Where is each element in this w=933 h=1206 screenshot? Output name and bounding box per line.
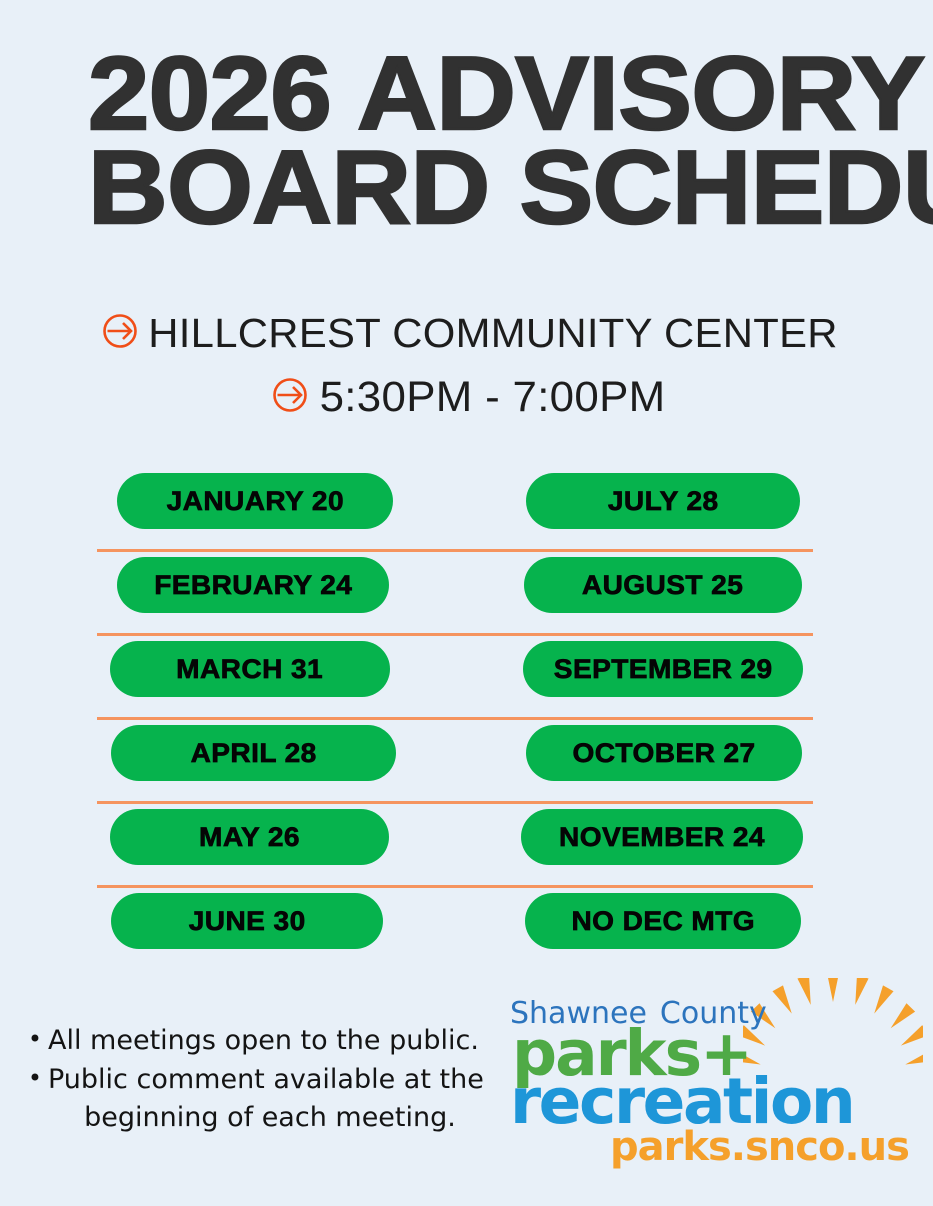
time-row: 5:30PM - 7:00PM (0, 376, 933, 419)
meeting-date-label: OCTOBER 27 (572, 738, 755, 769)
meeting-pill[interactable]: FEBRUARY 24 (117, 557, 389, 613)
meeting-pill[interactable]: AUGUST 25 (524, 557, 802, 613)
meeting-date-label: SEPTEMBER 29 (554, 654, 773, 685)
title-line-1: 2026 ADVISORY (88, 48, 894, 142)
bullet-icon: • (22, 1061, 48, 1097)
note-text: All meetings open to the public. (48, 1022, 492, 1059)
time-label: 5:30PM - 7:00PM (320, 376, 666, 419)
meeting-date-label: JUNE 30 (189, 906, 306, 937)
note-text-line2: beginning of each meeting. (48, 1099, 492, 1136)
list-item: • All meetings open to the public. (22, 1022, 492, 1059)
meeting-date-label: NOVEMBER 24 (559, 822, 765, 853)
meeting-pill[interactable]: MARCH 31 (110, 641, 390, 697)
title-line-2: BOARD SCHEDULE (88, 142, 894, 236)
arrow-circle-right-icon (271, 376, 309, 419)
row-divider (97, 549, 813, 552)
list-item: • Public comment available at the beginn… (22, 1061, 492, 1136)
row-divider (97, 633, 813, 636)
schedule-row: FEBRUARY 24 AUGUST 25 (0, 554, 933, 638)
logo-website-url[interactable]: parks.snco.us (610, 1127, 909, 1167)
meeting-date-label: NO DEC MTG (571, 906, 755, 937)
organization-logo: ShawneeCounty parks+ recreation parks.sn… (498, 982, 918, 1182)
meeting-date-label: FEBRUARY 24 (154, 570, 352, 601)
meeting-pill[interactable]: JUNE 30 (111, 893, 383, 949)
schedule-row: MARCH 31 SEPTEMBER 29 (0, 638, 933, 722)
meeting-pill[interactable]: JULY 28 (526, 473, 800, 529)
meeting-date-label: JANUARY 20 (166, 486, 343, 517)
venue-row: HILLCREST COMMUNITY CENTER (0, 312, 933, 355)
notes-list: • All meetings open to the public. • Pub… (22, 1022, 492, 1138)
row-divider (97, 717, 813, 720)
meeting-date-label: AUGUST 25 (582, 570, 743, 601)
meeting-pill[interactable]: JANUARY 20 (117, 473, 393, 529)
meeting-pill[interactable]: APRIL 28 (111, 725, 396, 781)
schedule-row: JUNE 30 NO DEC MTG (0, 890, 933, 974)
meeting-pill[interactable]: OCTOBER 27 (526, 725, 802, 781)
row-divider (97, 885, 813, 888)
meeting-pill[interactable]: NOVEMBER 24 (521, 809, 803, 865)
schedule-row: MAY 26 NOVEMBER 24 (0, 806, 933, 890)
row-divider (97, 801, 813, 804)
poster-canvas: 2026 ADVISORY BOARD SCHEDULE HILLCREST C… (0, 0, 933, 1206)
meeting-date-label: APRIL 28 (190, 738, 316, 769)
venue-label: HILLCREST COMMUNITY CENTER (149, 313, 839, 354)
bullet-icon: • (22, 1022, 48, 1058)
note-text-line1: Public comment available at the (48, 1064, 484, 1095)
meeting-date-label: MAY 26 (199, 822, 300, 853)
page-title: 2026 ADVISORY BOARD SCHEDULE (88, 48, 848, 235)
note-text: Public comment available at the beginnin… (48, 1061, 492, 1136)
arrow-circle-right-icon (101, 312, 139, 355)
meeting-pill[interactable]: SEPTEMBER 29 (523, 641, 803, 697)
schedule-row: APRIL 28 OCTOBER 27 (0, 722, 933, 806)
meeting-pill[interactable]: MAY 26 (110, 809, 389, 865)
meeting-pill[interactable]: NO DEC MTG (525, 893, 801, 949)
schedule-row: JANUARY 20 JULY 28 (0, 470, 933, 554)
meeting-date-label: JULY 28 (608, 486, 719, 517)
meeting-date-label: MARCH 31 (177, 654, 324, 685)
schedule-grid: JANUARY 20 JULY 28 FEBRUARY 24 AUGUST 25… (0, 470, 933, 974)
